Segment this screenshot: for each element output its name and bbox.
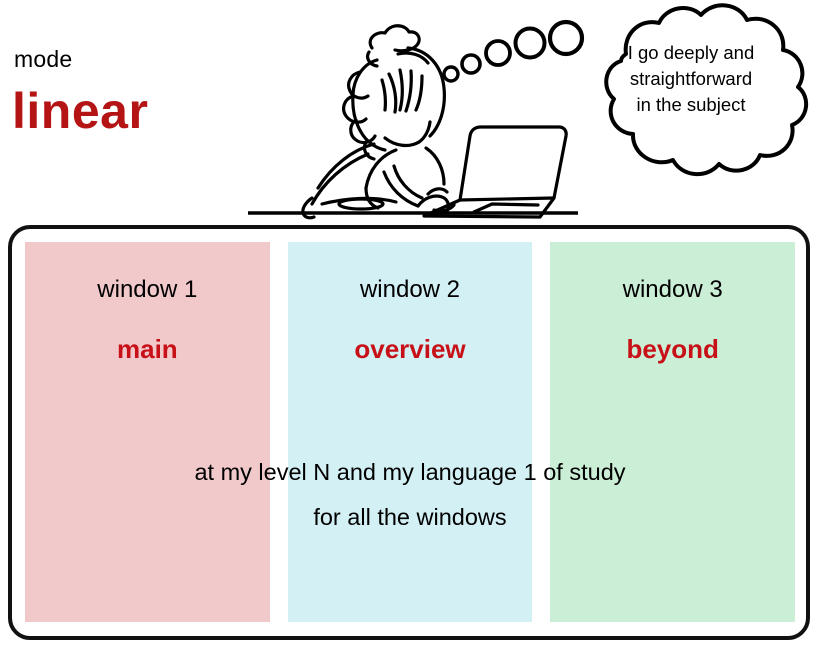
thought-bubble-text: I go deeply and straightforward in the s… bbox=[596, 40, 786, 118]
window-panel-2[interactable]: window 2 overview bbox=[288, 242, 533, 622]
window-panel-1-keyword: main bbox=[25, 336, 270, 362]
window-panel-3-keyword: beyond bbox=[550, 336, 795, 362]
thought-bubble-line-3: in the subject bbox=[636, 94, 745, 115]
window-panel-3[interactable]: window 3 beyond bbox=[550, 242, 795, 622]
thought-bubble-line-1: I go deeply and bbox=[628, 42, 755, 63]
mode-label: mode bbox=[14, 48, 72, 71]
mode-value: linear bbox=[12, 86, 148, 136]
window-panel-1[interactable]: window 1 main bbox=[25, 242, 270, 622]
windows-row: window 1 main window 2 overview window 3… bbox=[25, 242, 795, 622]
window-panel-2-keyword: overview bbox=[288, 336, 533, 362]
window-panel-2-title: window 2 bbox=[288, 278, 533, 302]
thought-bubble-line-2: straightforward bbox=[630, 68, 752, 89]
window-panel-3-title: window 3 bbox=[550, 278, 795, 302]
window-panel-1-title: window 1 bbox=[25, 278, 270, 302]
